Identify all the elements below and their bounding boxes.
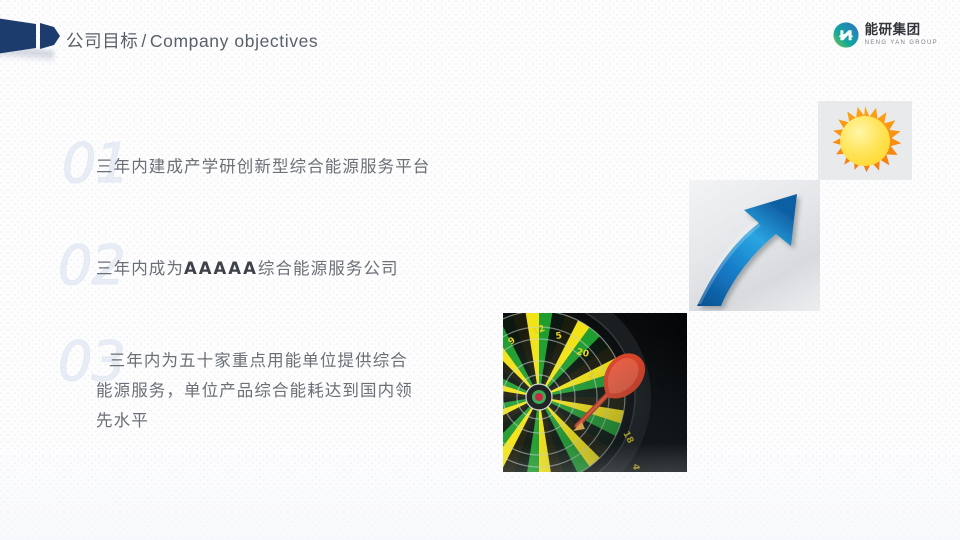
objective-text-2-after: 综合能源服务公司 bbox=[258, 259, 399, 278]
svg-text:4: 4 bbox=[630, 464, 640, 471]
objective-text-2-bold: AAAAA bbox=[184, 259, 258, 278]
dartboard-photo: 9 12 5 20 1 18 4 bbox=[503, 313, 687, 472]
ribbon-tip bbox=[40, 18, 60, 54]
neng-yan-circular-n-logo-icon bbox=[833, 22, 859, 48]
slide-canvas: 公司目标/Company objectives 能研集团 NENG YAN GR… bbox=[0, 0, 960, 540]
brand-name-en: NENG YAN GROUP bbox=[865, 40, 938, 46]
sun-photo bbox=[818, 101, 912, 180]
objective-item-3: 03 三年内为五十家重点用能单位提供综合能源服务，单位产品综合能耗达到国内领先水… bbox=[58, 330, 528, 440]
objective-text-3: 三年内为五十家重点用能单位提供综合能源服务，单位产品综合能耗达到国内领先水平 bbox=[96, 346, 516, 436]
page-title-separator: / bbox=[138, 31, 149, 51]
brand-logo: 能研集团 NENG YAN GROUP bbox=[833, 22, 938, 48]
page-title: 公司目标/Company objectives bbox=[66, 28, 318, 53]
slide-header: 公司目标/Company objectives 能研集团 NENG YAN GR… bbox=[0, 0, 960, 72]
objective-text-2-before: 三年内成为 bbox=[96, 259, 184, 278]
objective-text-2: 三年内成为AAAAA综合能源服务公司 bbox=[96, 254, 526, 284]
page-title-cn: 公司目标 bbox=[66, 31, 138, 51]
sun-core bbox=[840, 116, 890, 166]
objective-text-3-line3: 先水平 bbox=[96, 411, 149, 430]
objective-text-3-line2: 能源服务，单位产品综合能耗达到国内领 bbox=[96, 381, 413, 400]
ribbon-arrow-icon bbox=[0, 18, 60, 54]
brand-name-cn: 能研集团 bbox=[865, 24, 938, 38]
objective-item-1: 01 三年内建成产学研创新型综合能源服务平台 bbox=[62, 132, 582, 202]
brand-text: 能研集团 NENG YAN GROUP bbox=[865, 24, 938, 47]
ribbon-body bbox=[0, 18, 36, 54]
objective-text-3-line1: 三年内为五十家重点用能单位提供综合 bbox=[96, 351, 408, 370]
growth-arrow-photo bbox=[689, 180, 820, 311]
page-title-en: Company objectives bbox=[150, 31, 318, 51]
objective-text-1: 三年内建成产学研创新型综合能源服务平台 bbox=[96, 152, 566, 182]
objective-item-2: 02 三年内成为AAAAA综合能源服务公司 bbox=[58, 234, 528, 304]
dartboard-icon: 9 12 5 20 1 18 4 bbox=[503, 313, 687, 472]
upward-arrow-icon bbox=[689, 180, 820, 311]
